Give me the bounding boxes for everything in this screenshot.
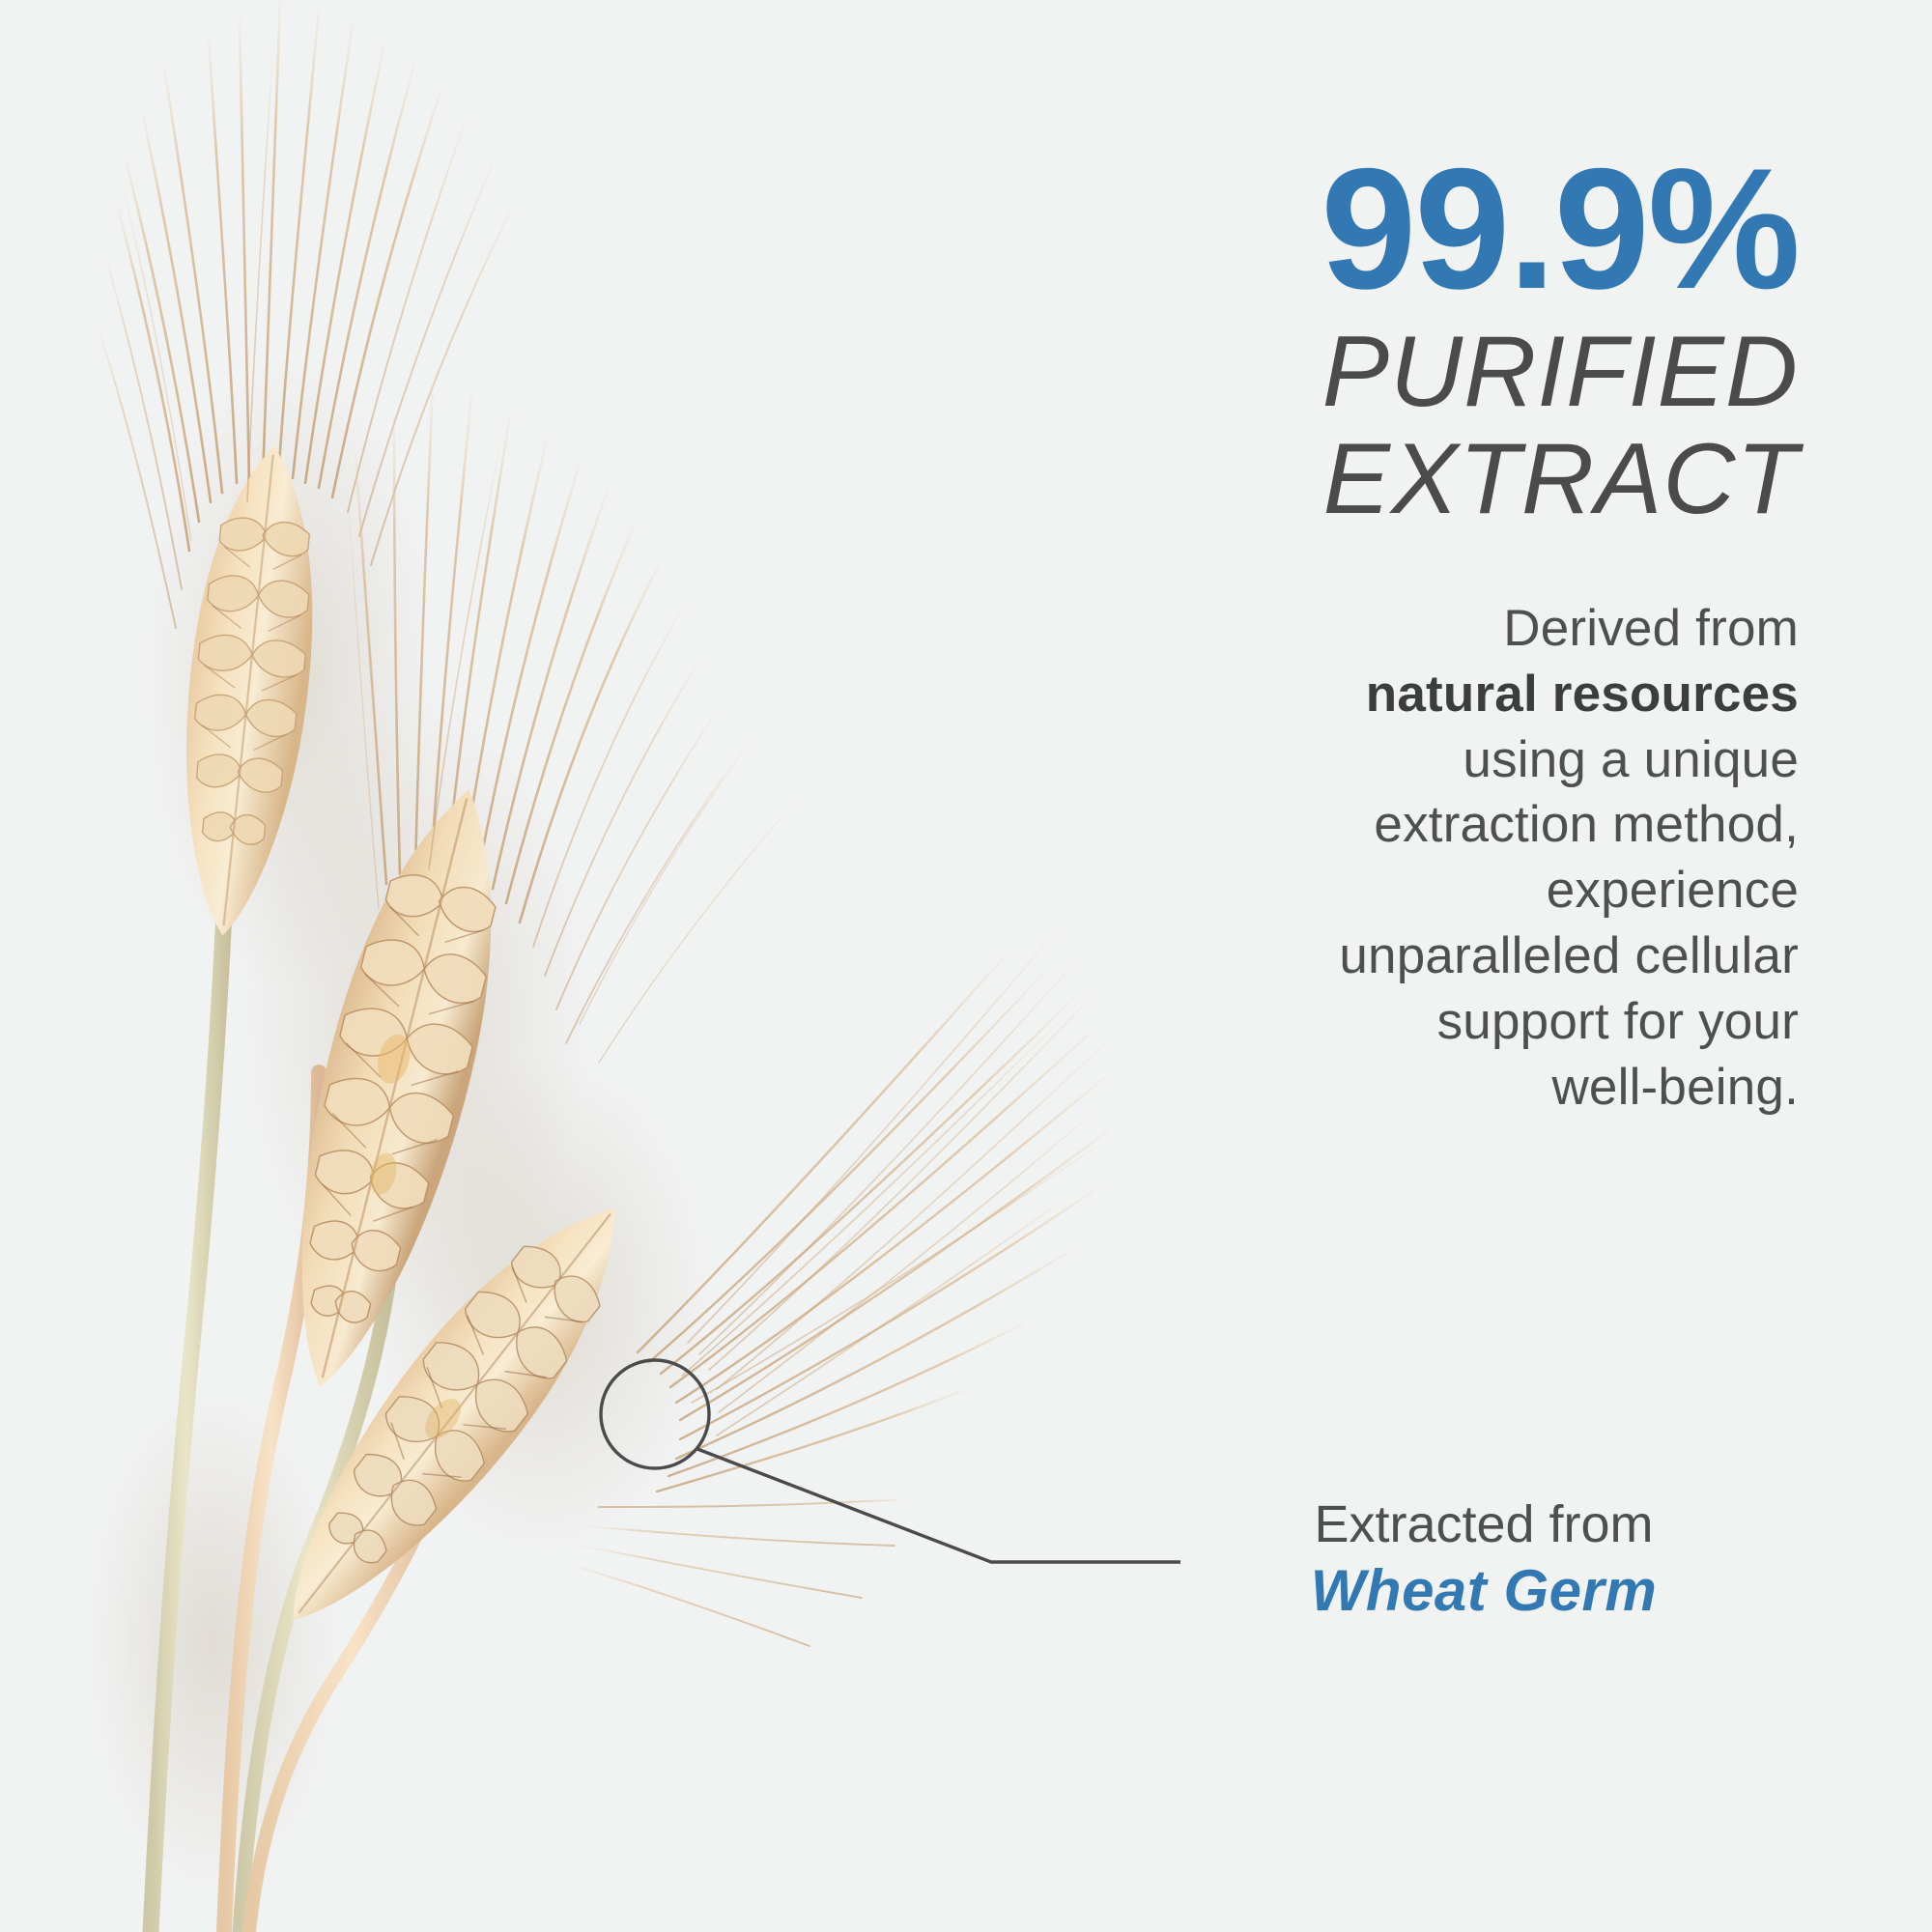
headline-percent: 99.9% <box>1180 145 1799 313</box>
callout-text: Extracted from Wheat Germ <box>1213 1495 1754 1624</box>
body-emphasis: natural resources <box>1366 666 1799 723</box>
promo-graphic: 99.9% PURIFIED EXTRACT Derived from natu… <box>0 0 1932 1932</box>
wheat-photo <box>0 0 1207 1932</box>
body-line-6: unparalleled cellular <box>1339 927 1799 984</box>
body-line-7: support for your <box>1437 993 1799 1050</box>
body-line-8: well-being. <box>1551 1059 1799 1116</box>
body-copy: Derived from natural resources using a u… <box>1180 596 1799 1121</box>
callout-label: Extracted from <box>1213 1495 1754 1553</box>
body-line-3: using a unique <box>1463 731 1799 788</box>
body-line-5: experience <box>1547 862 1799 919</box>
body-line-1: Derived from <box>1503 600 1799 657</box>
headline-subtitle-line1: PURIFIED <box>1322 316 1799 428</box>
copy-block: 99.9% PURIFIED EXTRACT Derived from natu… <box>1180 145 1799 1121</box>
callout-source: Wheat Germ <box>1213 1557 1754 1624</box>
headline-subtitle: PURIFIED EXTRACT <box>1180 319 1799 531</box>
headline-subtitle-line2: EXTRACT <box>1180 426 1799 532</box>
body-line-4: extraction method, <box>1374 796 1799 853</box>
